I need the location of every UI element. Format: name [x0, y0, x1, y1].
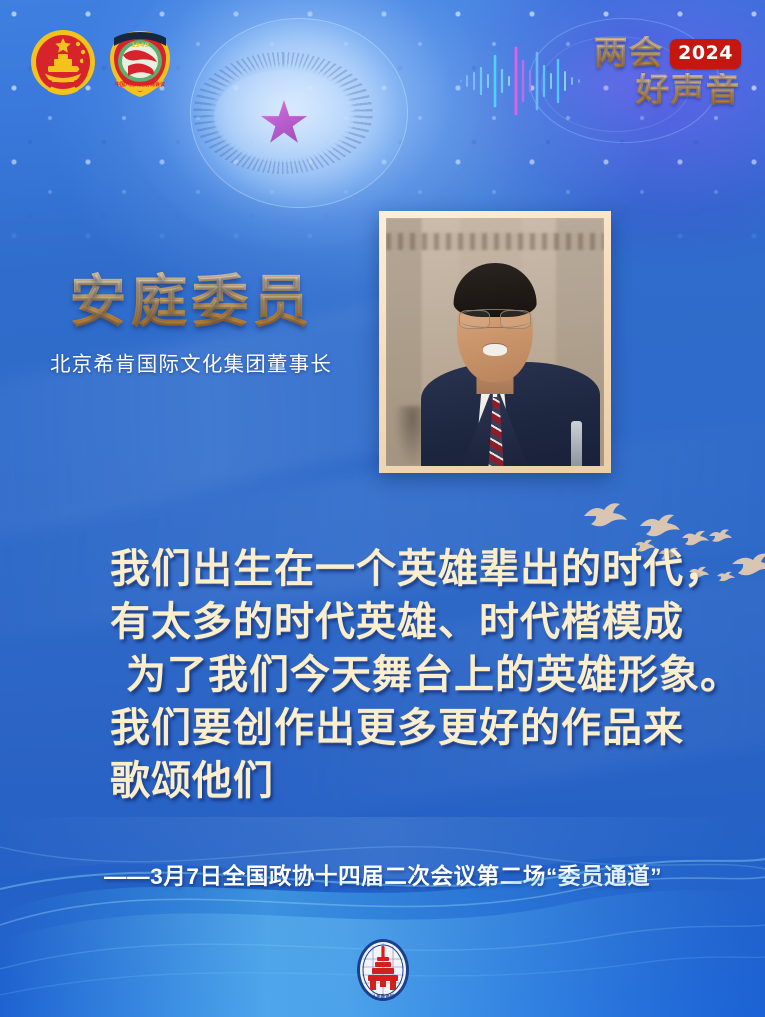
poster-canvas: 1949 中国人民政治协商会议: [0, 0, 765, 1017]
quote-line: 歌颂他们: [110, 755, 710, 808]
svg-text:人民政协报: 人民政协报: [372, 993, 395, 1000]
svg-text:中国人民政治协商会议: 中国人民政治协商会议: [115, 81, 166, 88]
quote-line: 我们出生在一个英雄辈出的时代，: [110, 543, 710, 596]
brand-line2: 好声音: [636, 73, 741, 109]
page-title: 安庭委员: [0, 272, 378, 334]
cppcc-emblem: 1949 中国人民政治协商会议: [104, 28, 176, 100]
brand-text-group: 两会 2024 好声音: [594, 36, 741, 109]
svg-text:1949: 1949: [131, 41, 150, 49]
year-badge: 2024: [670, 39, 741, 69]
portrait-background-band: [386, 233, 604, 250]
quote-line: 为了我们今天舞台上的英雄形象。: [110, 649, 710, 702]
brand-logo: 两会 2024 好声音: [449, 26, 749, 136]
quote-block: 我们出生在一个英雄辈出的时代， 有太多的时代英雄、时代楷模成 为了我们今天舞台上…: [110, 543, 710, 808]
quote-line: 我们要创作出更多更好的作品来: [110, 702, 710, 755]
audio-waveform-icon: [457, 44, 597, 118]
quote-line: 有太多的时代英雄、时代楷模成: [110, 596, 710, 649]
subject-name-block: 安庭委员 北京希肯国际文化集团董事长: [0, 272, 378, 378]
portrait-eyeglasses: [459, 309, 531, 329]
portrait-photo: [386, 218, 604, 466]
national-emblem-of-china: [28, 28, 98, 100]
portrait-microphone: [571, 421, 582, 466]
organization-seal-icon: 人民政协报: [355, 937, 411, 1003]
subject-title: 北京希肯国际文化集团董事长: [0, 352, 378, 378]
brand-line1: 两会: [594, 36, 664, 72]
portrait-mouth: [483, 344, 507, 355]
emblem-group: 1949 中国人民政治协商会议: [26, 28, 186, 100]
portrait-frame: [379, 211, 611, 473]
